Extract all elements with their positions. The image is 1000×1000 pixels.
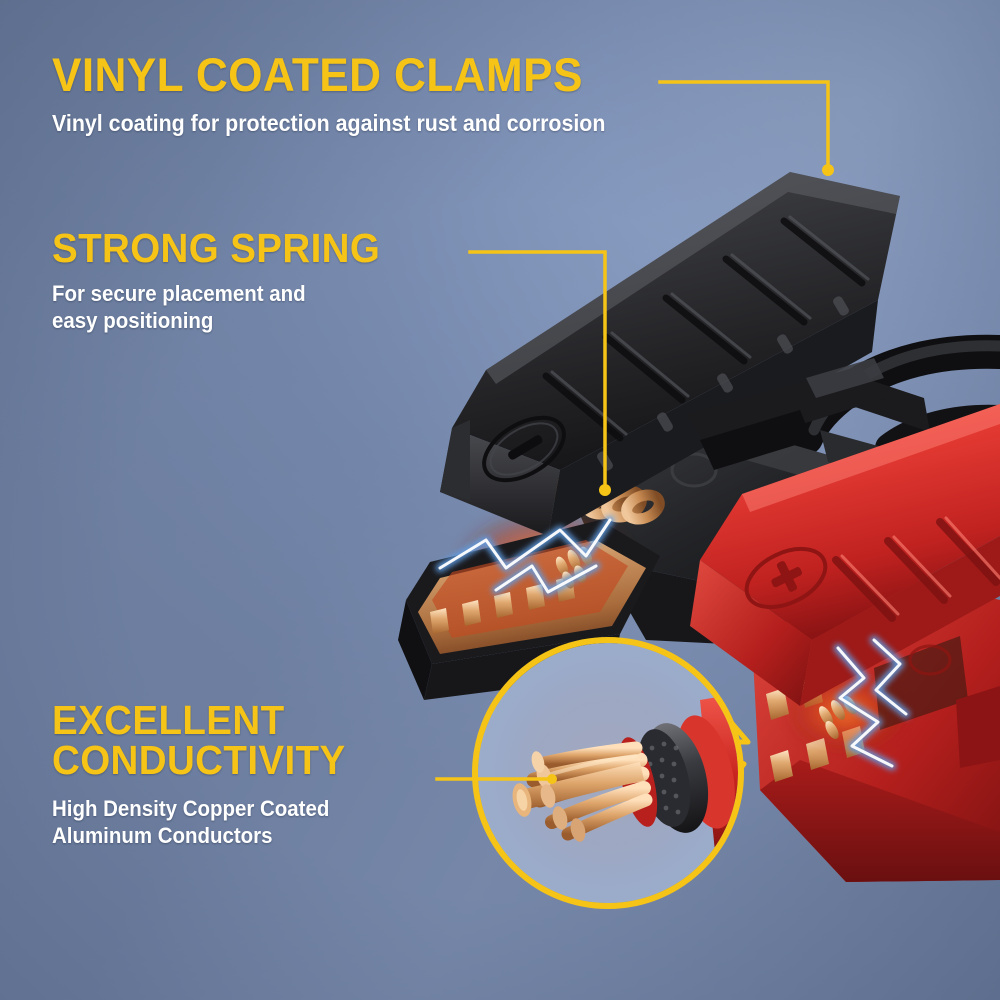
leader-line-vinyl [660, 82, 828, 166]
leader-dot-conductivity [547, 774, 557, 784]
leader-line-spring [470, 252, 605, 486]
infographic-canvas: VINYL COATED CLAMPS Vinyl coating for pr… [0, 0, 1000, 1000]
leader-dot-vinyl [822, 164, 834, 176]
leader-dot-spring [599, 484, 611, 496]
leader-lines [0, 0, 1000, 1000]
